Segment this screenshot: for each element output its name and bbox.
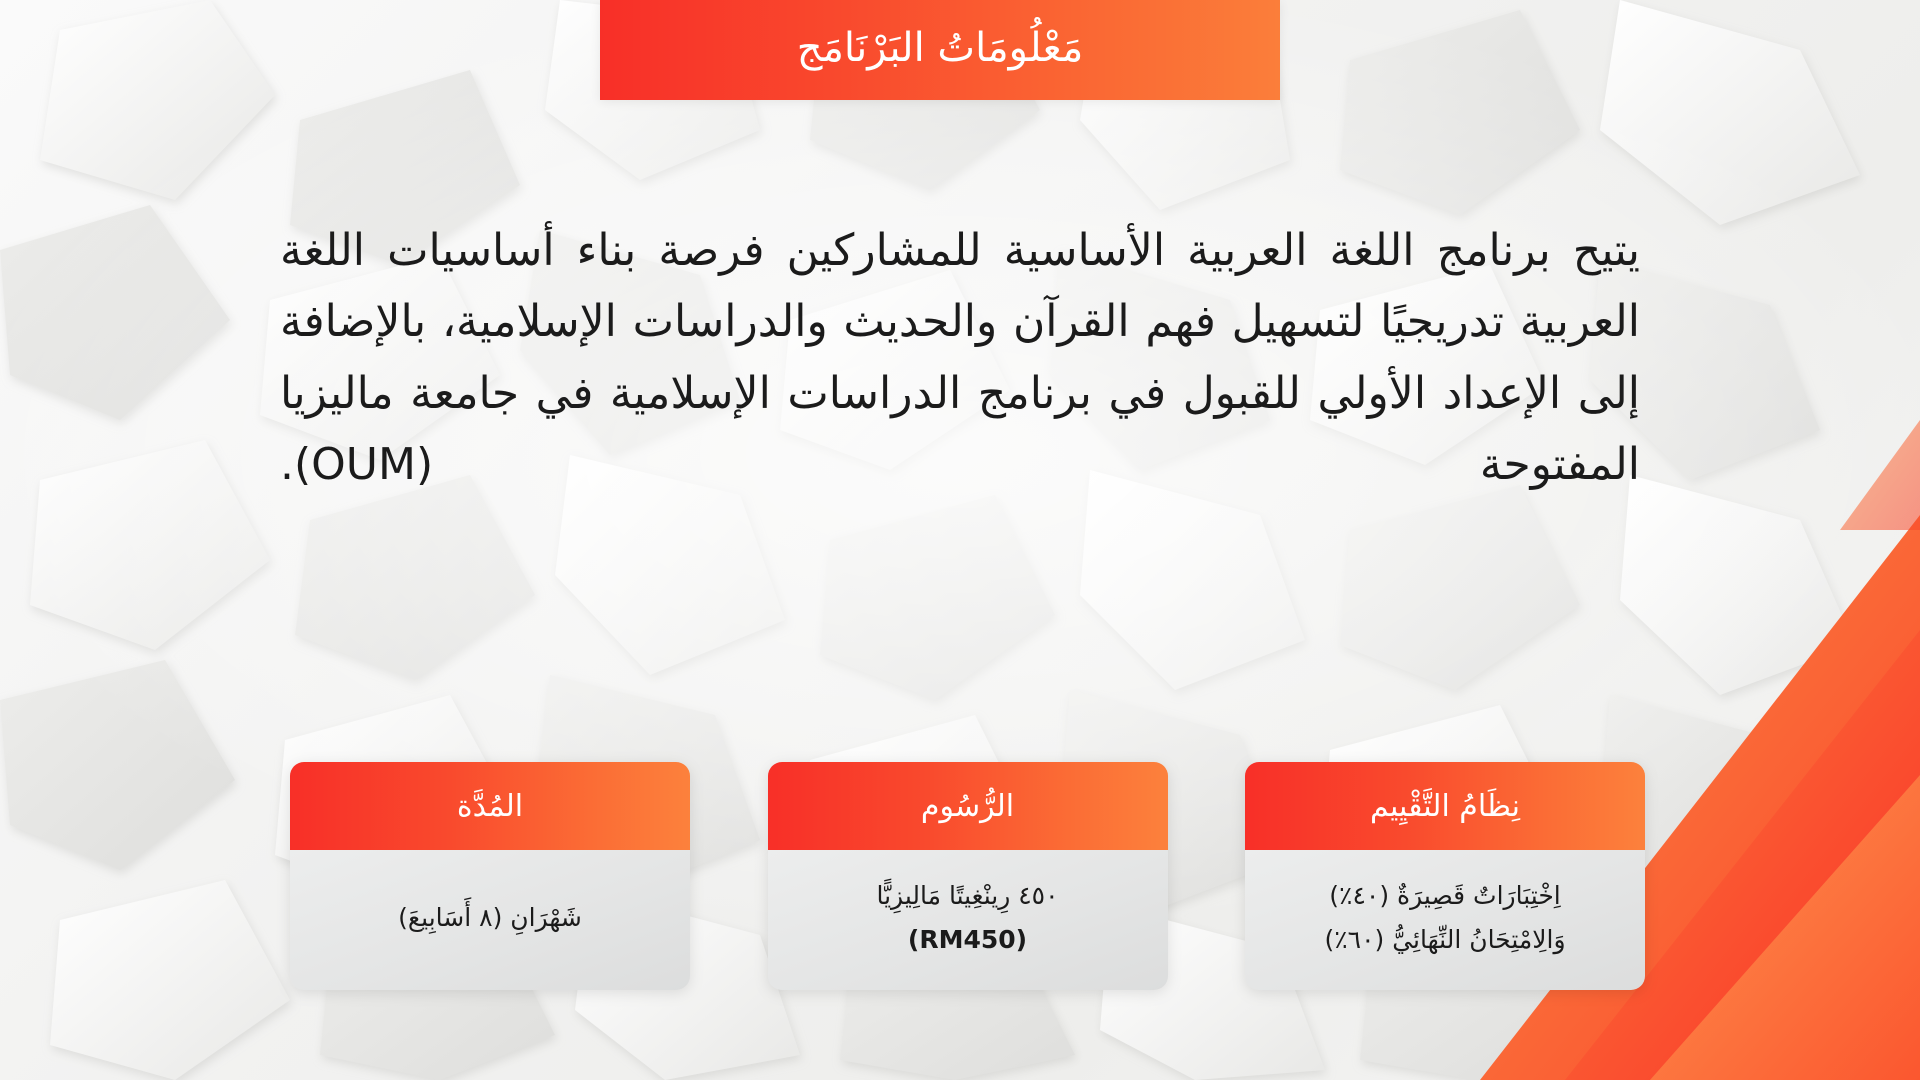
card-title-duration: المُدَّة xyxy=(457,790,523,823)
page-title: مَعْلُومَاتُ البَرْنَامَج xyxy=(797,26,1084,74)
card-line: (RM450) xyxy=(908,923,1027,957)
card-line: اِخْتِبَارَاتٌ قَصِيرَةٌ (٤٠٪) xyxy=(1329,879,1560,913)
card-header-fees: الرُّسُوم xyxy=(768,762,1168,850)
card-line: شَهْرَانِ (٨ أَسَابِيعَ) xyxy=(398,901,582,935)
card-line: ٤٥٠ رِينْغِيتًا مَالِيزِيًّا xyxy=(876,879,1058,913)
card-body-assessment-system: اِخْتِبَارَاتٌ قَصِيرَةٌ (٤٠٪) وَالِامْت… xyxy=(1245,850,1645,990)
card-body-duration: شَهْرَانِ (٨ أَسَابِيعَ) xyxy=(290,850,690,990)
info-card-assessment-system: نِظَامُ التَّقْيِيم اِخْتِبَارَاتٌ قَصِي… xyxy=(1245,762,1645,990)
card-title-fees: الرُّسُوم xyxy=(921,790,1014,823)
info-card-fees: الرُّسُوم ٤٥٠ رِينْغِيتًا مَالِيزِيًّا (… xyxy=(768,762,1168,990)
program-description: يتيح برنامج اللغة العربية الأساسية للمشا… xyxy=(280,215,1640,500)
body-text-block: يتيح برنامج اللغة العربية الأساسية للمشا… xyxy=(280,215,1640,500)
card-body-fees: ٤٥٠ رِينْغِيتًا مَالِيزِيًّا (RM450) xyxy=(768,850,1168,990)
info-card-duration: المُدَّة شَهْرَانِ (٨ أَسَابِيعَ) xyxy=(290,762,690,990)
card-header-assessment-system: نِظَامُ التَّقْيِيم xyxy=(1245,762,1645,850)
card-line: وَالِامْتِحَانُ النِّهَائِيُّ (٦٠٪) xyxy=(1324,923,1565,957)
title-banner: مَعْلُومَاتُ البَرْنَامَج xyxy=(600,0,1280,100)
card-header-duration: المُدَّة xyxy=(290,762,690,850)
info-cards-row: نِظَامُ التَّقْيِيم اِخْتِبَارَاتٌ قَصِي… xyxy=(290,762,1645,990)
card-title-assessment-system: نِظَامُ التَّقْيِيم xyxy=(1370,790,1520,823)
slide-root: مَعْلُومَاتُ البَرْنَامَج يتيح برنامج ال… xyxy=(0,0,1920,1080)
